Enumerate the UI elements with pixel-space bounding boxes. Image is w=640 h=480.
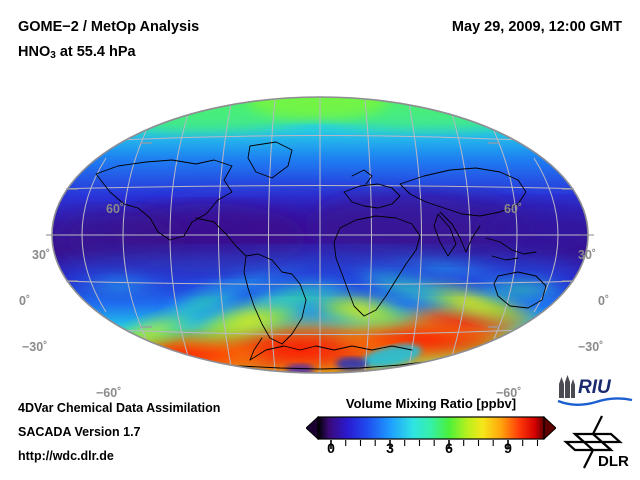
- pressure-level: at 55.4 hPa: [56, 44, 136, 60]
- colorbar-title: Volume Mixing Ratio [ppbv]: [306, 396, 556, 411]
- colorbar: Volume Mixing Ratio [ppbv]: [306, 396, 556, 468]
- visualization-canvas: GOME−2 / MetOp Analysis HNO3 at 55.4 hPa…: [0, 0, 640, 480]
- hammer-projection-plot: [0, 88, 640, 383]
- website-link[interactable]: http://wdc.dlr.de: [18, 449, 114, 463]
- lat-label-right-m30: −30˚: [578, 340, 603, 354]
- riu-logo: RIU: [556, 374, 634, 408]
- lat-label-right-30: 30˚: [578, 248, 596, 262]
- colorbar-tick-6: 6: [445, 440, 453, 456]
- species-level-label: HNO3 at 55.4 hPa: [18, 44, 136, 61]
- riu-wordmark: RIU: [578, 377, 612, 398]
- colorbar-tick-0: 0: [327, 440, 335, 456]
- colorbar-arrow-left: [306, 417, 318, 439]
- cathedral-towers-icon: [559, 375, 575, 398]
- colorbar-arrow-right: [544, 417, 556, 439]
- method-label: 4DVar Chemical Data Assimilation: [18, 401, 220, 415]
- colorbar-tick-3: 3: [386, 440, 394, 456]
- dlr-wordmark: DLR: [598, 453, 629, 470]
- riu-wave-icon: [558, 398, 632, 404]
- colorbar-scale: [306, 416, 556, 456]
- lat-label-left-0: 0˚: [19, 294, 30, 308]
- colorbar-tick-9: 9: [504, 440, 512, 456]
- lat-label-left-60: 60˚: [106, 202, 124, 216]
- colorbar-gradient: [318, 417, 544, 439]
- page-title: GOME−2 / MetOp Analysis: [18, 19, 199, 35]
- lat-label-right-60: 60˚: [504, 202, 522, 216]
- lat-label-right-0: 0˚: [598, 294, 609, 308]
- dlr-logo: DLR: [562, 414, 636, 470]
- lat-label-left-m30: −30˚: [22, 340, 47, 354]
- lat-label-left-30: 30˚: [32, 248, 50, 262]
- lat-label-left-m60: −60˚: [96, 386, 121, 400]
- version-label: SACADA Version 1.7: [18, 425, 141, 439]
- species-name: HNO: [18, 44, 50, 60]
- datetime-stamp: May 29, 2009, 12:00 GMT: [452, 19, 622, 35]
- world-map: 60˚ 30˚ 0˚ −30˚ −60˚ 60˚ 30˚ 0˚ −30˚ −60…: [0, 88, 640, 383]
